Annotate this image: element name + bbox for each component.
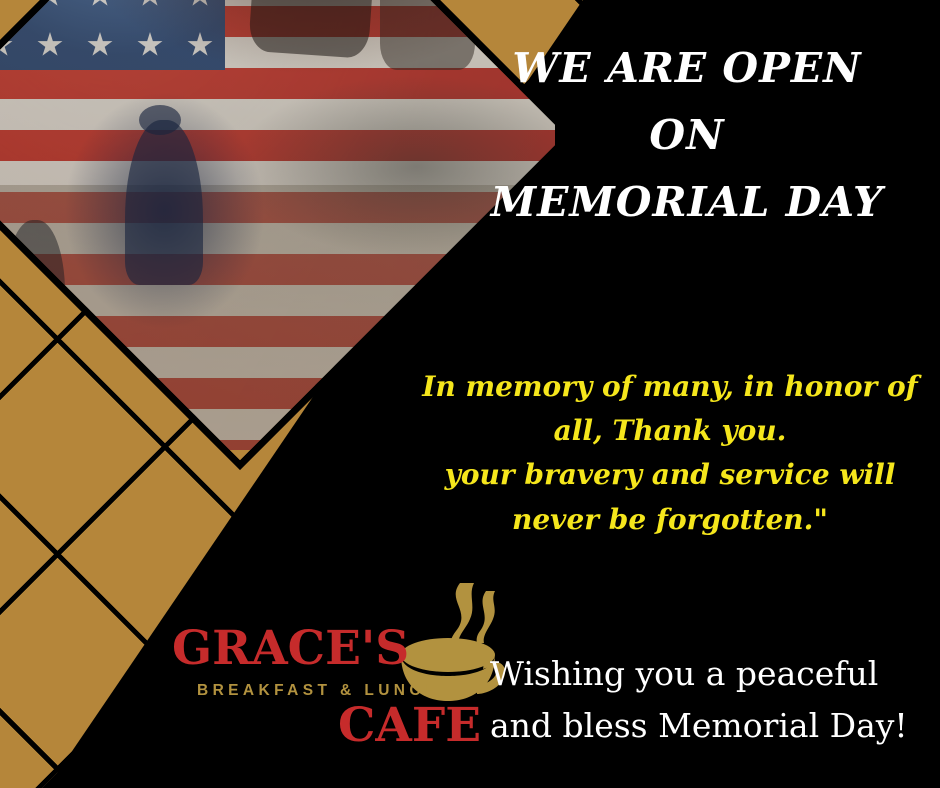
quote-line-1: In memory of many, in honor of: [420, 365, 920, 409]
headline-block: WE ARE OPEN ON MEMORIAL DAY: [452, 48, 922, 223]
headline-line-2: ON: [452, 115, 922, 156]
greeting-line-1: Wishing you a peaceful: [490, 648, 910, 700]
headline-line-1: WE ARE OPEN: [452, 48, 922, 89]
quote-line-2: all, Thank you.: [420, 409, 920, 453]
quote-line-4: never be forgotten.": [420, 498, 920, 542]
soldier-silhouette: [248, 0, 382, 59]
logo-cafe-word: CAFE: [338, 702, 481, 749]
greeting-line-2: and bless Memorial Day!: [490, 700, 910, 752]
soldier-helmet-silhouette: [139, 105, 181, 135]
logo-brand-name: GRACE'S: [172, 625, 409, 672]
memorial-quote-block: In memory of many, in honor of all, Than…: [420, 365, 920, 542]
memorial-day-poster: WE ARE OPEN ON MEMORIAL DAY In memory of…: [0, 0, 940, 788]
headline-line-3: MEMORIAL DAY: [452, 182, 922, 223]
quote-line-3: your bravery and service will: [420, 453, 920, 497]
greeting-block: Wishing you a peaceful and bless Memoria…: [490, 648, 910, 752]
graces-cafe-logo: GRACE'S BREAKFAST & LUNCH CAFE: [170, 575, 500, 765]
